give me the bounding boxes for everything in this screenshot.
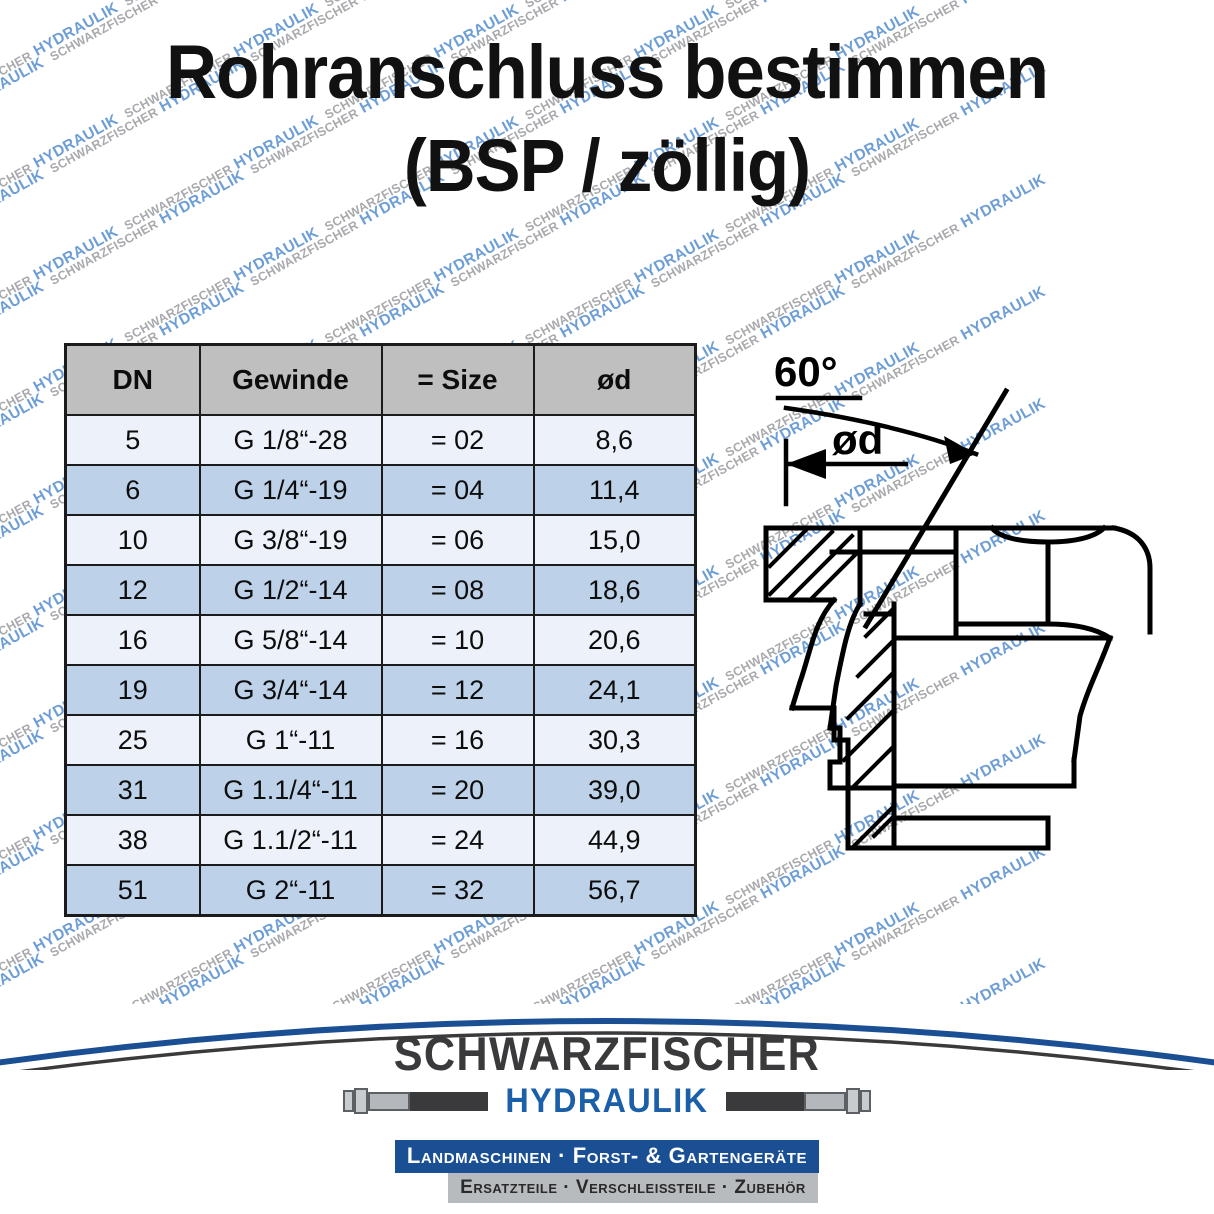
cell-gewinde: G 5/8“-14 <box>200 615 382 665</box>
fitting-cross-section-drawing: 60° ød <box>748 336 1214 888</box>
cell-dn: 51 <box>66 865 200 916</box>
header-dn: DN <box>66 345 200 416</box>
table-row: 16G 5/8“-14= 1020,6 <box>66 615 696 665</box>
cell-od: 24,1 <box>534 665 696 715</box>
cell-dn: 19 <box>66 665 200 715</box>
table-row: 19G 3/4“-14= 1224,1 <box>66 665 696 715</box>
ferrule-icon <box>368 1092 410 1111</box>
cell-od: 15,0 <box>534 515 696 565</box>
cell-dn: 31 <box>66 765 200 815</box>
header-gewinde: Gewinde <box>200 345 382 416</box>
cell-od: 18,6 <box>534 565 696 615</box>
cell-size: = 12 <box>382 665 534 715</box>
port-lower-curve <box>792 600 834 708</box>
od-arrow-head <box>786 449 826 479</box>
cell-od: 8,6 <box>534 415 696 465</box>
table-body: 5G 1/8“-28= 028,66G 1/4“-19= 0411,410G 3… <box>66 415 696 916</box>
cell-dn: 5 <box>66 415 200 465</box>
title-line-2: (BSP / zöllig) <box>42 128 1171 203</box>
cell-gewinde: G 1/8“-28 <box>200 415 382 465</box>
cell-gewinde: G 1“-11 <box>200 715 382 765</box>
company-logo: SCHWARZFISCHER HYDRAULIK Landmaschinen ·… <box>0 1030 1214 1203</box>
logo-wordmark-schwarzfischer: SCHWARZFISCHER <box>49 1030 1166 1077</box>
angle-label: 60° <box>774 348 838 395</box>
cell-size: = 20 <box>382 765 534 815</box>
tagline-secondary: Ersatzteile · Verschleißteile · Zubehör <box>448 1173 818 1203</box>
cell-gewinde: G 3/4“-14 <box>200 665 382 715</box>
hose-right <box>726 1088 871 1114</box>
cell-dn: 12 <box>66 565 200 615</box>
cell-size: = 24 <box>382 815 534 865</box>
hex-fitting-icon <box>860 1090 871 1112</box>
table-row: 38G 1.1/2“-11= 2444,9 <box>66 815 696 865</box>
nut-skirt-curve <box>1074 638 1110 760</box>
tail-lower <box>894 818 1048 848</box>
header-size: = Size <box>382 345 534 416</box>
hose-left <box>343 1088 488 1114</box>
cell-gewinde: G 1/4“-19 <box>200 465 382 515</box>
thread-spec-table: DN Gewinde = Size ød 5G 1/8“-28= 028,66G… <box>64 343 697 917</box>
cell-dn: 38 <box>66 815 200 865</box>
title-line-1: Rohranschluss bestimmen <box>42 34 1171 112</box>
cell-size: = 06 <box>382 515 534 565</box>
table-row: 5G 1/8“-28= 028,6 <box>66 415 696 465</box>
table-row: 12G 1/2“-14= 0818,6 <box>66 565 696 615</box>
cell-gewinde: G 1.1/4“-11 <box>200 765 382 815</box>
cell-gewinde: G 3/8“-19 <box>200 515 382 565</box>
cell-dn: 10 <box>66 515 200 565</box>
cell-size: = 10 <box>382 615 534 665</box>
tagline-group: Landmaschinen · Forst- & Gartengeräte Er… <box>0 1140 1214 1203</box>
nut-top-right-chamfer <box>1114 528 1150 632</box>
page-title: Rohranschluss bestimmen (BSP / zöllig) <box>0 34 1214 203</box>
cell-od: 20,6 <box>534 615 696 665</box>
table-row: 25G 1“-11= 1630,3 <box>66 715 696 765</box>
cell-size: = 32 <box>382 865 534 916</box>
header-od: ød <box>534 345 696 416</box>
tail-upper <box>894 786 1048 818</box>
hose-body-icon <box>726 1092 804 1111</box>
table-header-row: DN Gewinde = Size ød <box>66 345 696 416</box>
tagline-primary: Landmaschinen · Forst- & Gartengeräte <box>395 1140 819 1173</box>
nut-bottom-face <box>956 601 1110 638</box>
table-row: 6G 1/4“-19= 0411,4 <box>66 465 696 515</box>
cell-dn: 16 <box>66 615 200 665</box>
cell-od: 39,0 <box>534 765 696 815</box>
cell-size: = 04 <box>382 465 534 515</box>
table-row: 10G 3/8“-19= 0615,0 <box>66 515 696 565</box>
ferrule-icon <box>804 1092 846 1111</box>
cell-dn: 6 <box>66 465 200 515</box>
cell-gewinde: G 1.1/2“-11 <box>200 815 382 865</box>
hex-fitting-icon <box>354 1088 368 1114</box>
cell-gewinde: G 1/2“-14 <box>200 565 382 615</box>
cell-size: = 08 <box>382 565 534 615</box>
table-row: 31G 1.1/4“-11= 2039,0 <box>66 765 696 815</box>
hex-fitting-icon <box>846 1088 860 1114</box>
poster-canvas: SCHWARZFISCHER HYDRAULIK SCHWARZFISCHER … <box>0 0 1214 1214</box>
watermark-text: SCHWARZFISCHER HYDRAULIK SCHWARZFISCHER … <box>0 0 931 8</box>
cell-size: = 16 <box>382 715 534 765</box>
cell-od: 56,7 <box>534 865 696 916</box>
cell-od: 11,4 <box>534 465 696 515</box>
cell-gewinde: G 2“-11 <box>200 865 382 916</box>
hose-body-icon <box>410 1092 488 1111</box>
cell-od: 44,9 <box>534 815 696 865</box>
logo-wordmark-hydraulik: HYDRAULIK <box>494 1084 720 1118</box>
cell-size: = 02 <box>382 415 534 465</box>
nut-skirt-bottom <box>894 760 1074 786</box>
hex-fitting-icon <box>343 1090 354 1112</box>
cell-dn: 25 <box>66 715 200 765</box>
table-row: 51G 2“-11= 3256,7 <box>66 865 696 916</box>
cell-od: 30,3 <box>534 715 696 765</box>
diameter-label: ød <box>832 416 883 463</box>
logo-hose-graphic: HYDRAULIK <box>0 1084 1214 1118</box>
